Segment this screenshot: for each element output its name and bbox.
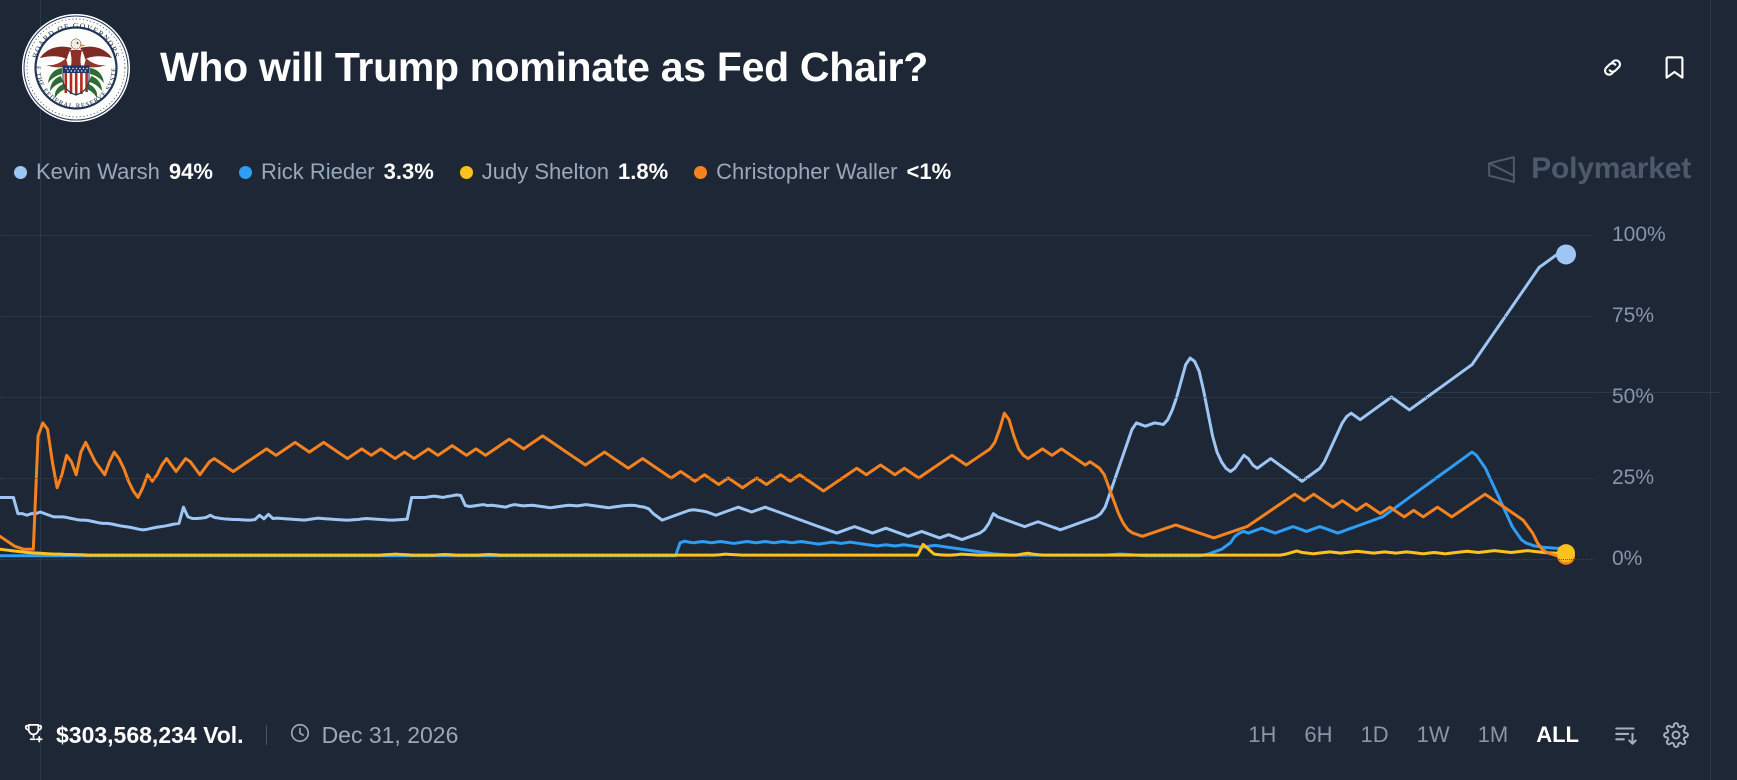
y-tick-0: 0%	[1612, 547, 1642, 571]
polymarket-chart-card: BOARD OF GOVERNORS OF THE FEDERAL RESERV…	[0, 0, 1737, 780]
legend-label: Christopher Waller	[716, 159, 897, 185]
series-line	[0, 452, 1566, 556]
price-history-chart[interactable]: 100% 75% 50% 25% 0% Oct Nov Dec Jan	[0, 210, 1737, 630]
footer-separator	[266, 725, 267, 745]
timeframe-1d[interactable]: 1D	[1347, 716, 1403, 754]
header-actions	[1597, 53, 1715, 83]
end-date-group: Dec 31, 2026	[289, 722, 459, 749]
market-header: BOARD OF GOVERNORS OF THE FEDERAL RESERV…	[0, 0, 1737, 135]
end-date-text: Dec 31, 2026	[322, 722, 459, 749]
gridline-100	[0, 235, 1594, 236]
legend-label: Judy Shelton	[482, 159, 609, 185]
legend-item-christopher-waller[interactable]: Christopher Waller <1%	[694, 159, 951, 185]
trophy-icon	[22, 721, 45, 749]
series-endpoint-marker	[1556, 244, 1576, 264]
timeframe-all[interactable]: ALL	[1522, 716, 1593, 754]
legend-value: 94%	[169, 159, 213, 185]
y-tick-50: 50%	[1612, 385, 1654, 409]
polymarket-logo-icon	[1485, 153, 1518, 186]
y-tick-75: 75%	[1612, 304, 1654, 328]
copy-link-icon[interactable]	[1597, 53, 1627, 83]
polymarket-watermark: Polymarket	[1485, 152, 1691, 186]
clock-icon	[289, 722, 311, 749]
market-footer: $303,568,234 Vol. Dec 31, 2026 1H 6H 1D …	[0, 690, 1737, 780]
series-line	[0, 413, 1566, 556]
legend-value: 1.8%	[618, 159, 668, 185]
series-line	[0, 544, 1566, 555]
timeframe-1h[interactable]: 1H	[1234, 716, 1290, 754]
series-legend: Kevin Warsh 94% Rick Rieder 3.3% Judy Sh…	[14, 156, 977, 188]
legend-item-kevin-warsh[interactable]: Kevin Warsh 94%	[14, 159, 213, 185]
legend-color-dot	[694, 166, 707, 179]
market-title: Who will Trump nominate as Fed Chair?	[160, 44, 928, 91]
sort-descending-icon[interactable]	[1609, 718, 1643, 752]
volume-group: $303,568,234 Vol.	[22, 721, 244, 749]
y-axis-labels: 100% 75% 50% 25% 0%	[1612, 210, 1732, 630]
legend-item-rick-rieder[interactable]: Rick Rieder 3.3%	[239, 159, 434, 185]
bookmark-icon[interactable]	[1659, 53, 1689, 83]
legend-value: 3.3%	[384, 159, 434, 185]
settings-gear-icon[interactable]	[1659, 718, 1693, 752]
legend-label: Kevin Warsh	[36, 159, 160, 185]
legend-value: <1%	[907, 159, 952, 185]
gridline-75	[0, 316, 1594, 317]
footer-left-group: $303,568,234 Vol. Dec 31, 2026	[22, 721, 458, 749]
legend-color-dot	[14, 166, 27, 179]
gridline-0	[0, 559, 1594, 560]
timeframe-1m[interactable]: 1M	[1464, 716, 1523, 754]
polymarket-wordmark: Polymarket	[1531, 152, 1691, 186]
timeframe-controls: 1H 6H 1D 1W 1M ALL	[1234, 716, 1715, 754]
timeframe-6h[interactable]: 6H	[1290, 716, 1346, 754]
legend-label: Rick Rieder	[261, 159, 375, 185]
legend-item-judy-shelton[interactable]: Judy Shelton 1.8%	[460, 159, 668, 185]
volume-amount: $303,568,234 Vol.	[56, 722, 244, 749]
timeframe-1w[interactable]: 1W	[1403, 716, 1464, 754]
chart-plot-area[interactable]	[0, 210, 1594, 630]
legend-color-dot	[239, 166, 252, 179]
gridline-50	[0, 397, 1594, 398]
y-tick-100: 100%	[1612, 223, 1666, 247]
chart-series-svg	[0, 210, 1594, 630]
y-tick-25: 25%	[1612, 466, 1654, 490]
legend-color-dot	[460, 166, 473, 179]
gridline-25	[0, 478, 1594, 479]
federal-reserve-seal-icon: BOARD OF GOVERNORS OF THE FEDERAL RESERV…	[22, 14, 130, 122]
